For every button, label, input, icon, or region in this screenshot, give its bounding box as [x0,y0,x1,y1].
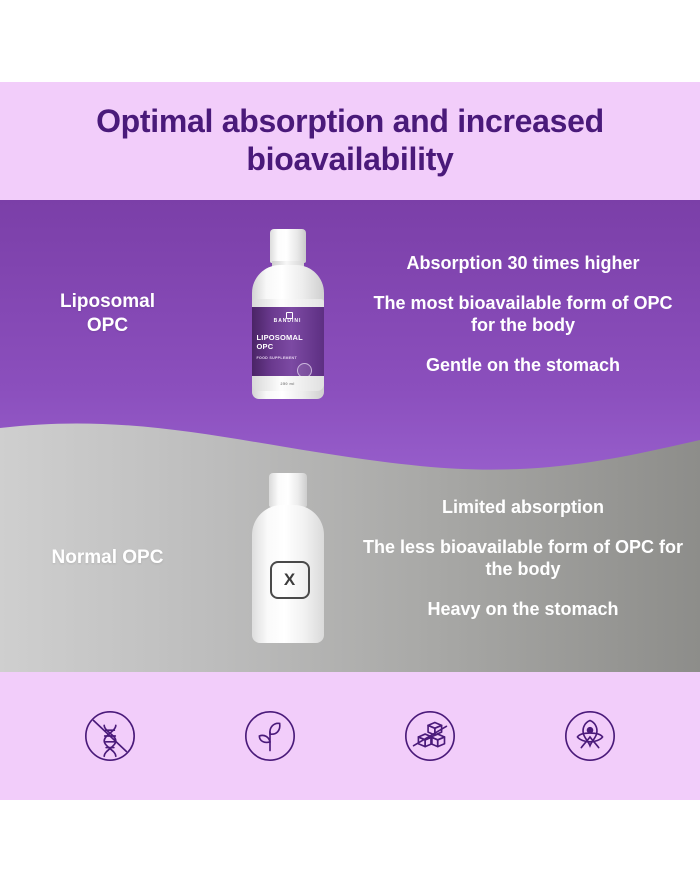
bottle-volume: 250 ml [252,381,324,386]
bottle-product-line2: OPC [257,342,303,351]
liposomal-claims: Absorption 30 times higher The most bioa… [360,252,700,376]
badge-row [0,672,700,800]
no-gmo-icon [81,707,139,765]
page-title: Optimal absorption and increased bioavai… [30,103,670,179]
normal-row: Normal OPC X Limited absorption The less… [0,444,700,672]
bottle-product-name: LIPOSOMAL OPC [257,333,303,352]
infographic-page: Optimal absorption and increased bioavai… [0,0,700,869]
normal-bottle-cap [269,473,307,507]
liposomal-label-line2: OPC [0,314,215,338]
normal-claim-1: Limited absorption [360,496,686,519]
normal-bottle-image: X [246,473,330,643]
comparison-section: Liposomal OPC BANDINI LIPOSOMAL [0,200,700,672]
normal-claims: Limited absorption The less bioavailable… [360,496,700,620]
no-sugar-icon [401,707,459,765]
normal-bottle-column: X [215,473,360,643]
bottle-product-line1: LIPOSOMAL [257,333,303,342]
normal-claim-2: The less bioavailable form of OPC for th… [360,536,686,581]
x-mark-icon: X [270,561,310,599]
bottle-subtitle: FOOD SUPPLEMENT [257,356,297,360]
liposomal-row: Liposomal OPC BANDINI LIPOSOMAL [0,200,700,428]
liposomal-bottle-image: BANDINI LIPOSOMAL OPC FOOD SUPPLEMENT [246,229,330,399]
liposomal-claim-1: Absorption 30 times higher [360,252,686,275]
liposomal-label-line1: Liposomal [0,290,215,314]
liposomal-claim-2: The most bioavailable form of OPC for th… [360,292,686,337]
brand-name: BANDINI [252,318,324,324]
normal-label: Normal OPC [0,546,215,570]
liposomal-bottle-column: BANDINI LIPOSOMAL OPC FOOD SUPPLEMENT [215,229,360,399]
label-panel: BANDINI LIPOSOMAL OPC FOOD SUPPLEMENT [252,307,324,377]
normal-claim-3: Heavy on the stomach [360,598,686,621]
vitality-icon [561,707,619,765]
liposomal-label: Liposomal OPC [0,290,215,338]
plant-based-icon [241,707,299,765]
header-band: Optimal absorption and increased bioavai… [0,82,700,200]
bottle-label: BANDINI LIPOSOMAL OPC FOOD SUPPLEMENT [252,299,324,391]
liposomal-claim-3: Gentle on the stomach [360,354,686,377]
bottle-cap [270,229,306,263]
